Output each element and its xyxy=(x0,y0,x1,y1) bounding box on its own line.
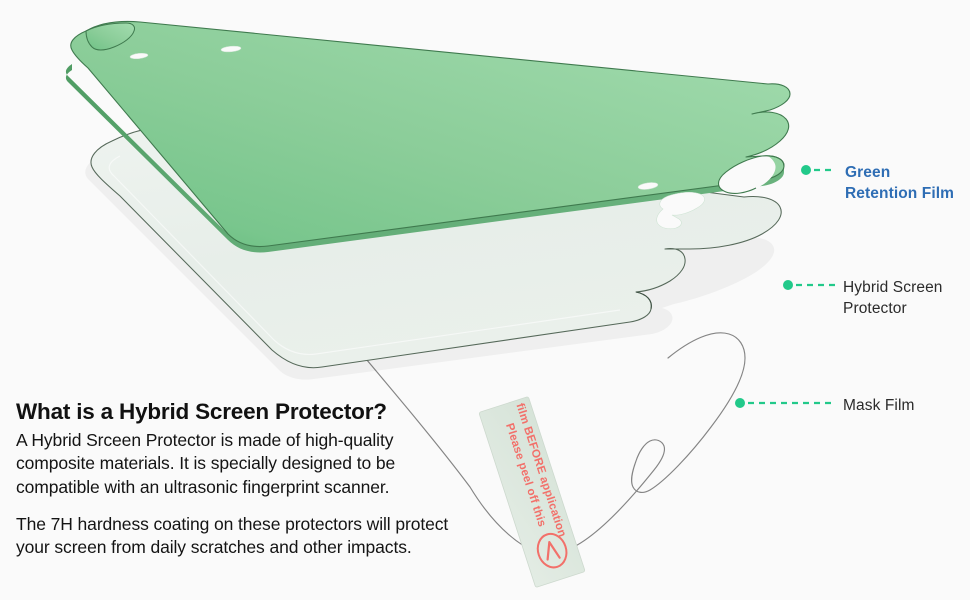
callout-label-green-retention-film: Green Retention Film xyxy=(845,163,954,205)
leader-hybrid-screen-protector xyxy=(783,280,836,290)
infographic-canvas: Please peel off this film BEFORE applica… xyxy=(0,0,970,600)
pull-tab: Please peel off this film BEFORE applica… xyxy=(479,396,585,587)
description-paragraph-2: The 7H hardness coating on these protect… xyxy=(16,513,461,560)
page-title: What is a Hybrid Screen Protector? xyxy=(16,398,461,425)
callout-label-hybrid-screen-protector: Hybrid Screen Protector xyxy=(843,278,943,320)
leader-dot-mask xyxy=(735,398,745,408)
leader-mask-film xyxy=(735,398,836,408)
description-paragraph-1: A Hybrid Srceen Protector is made of hig… xyxy=(16,429,461,499)
leader-dot-hybrid xyxy=(783,280,793,290)
callout-label-mask-film: Mask Film xyxy=(843,396,915,417)
leader-green-retention-film xyxy=(801,165,836,175)
description-block: What is a Hybrid Screen Protector? A Hyb… xyxy=(16,398,461,559)
leader-dot-green xyxy=(801,165,811,175)
